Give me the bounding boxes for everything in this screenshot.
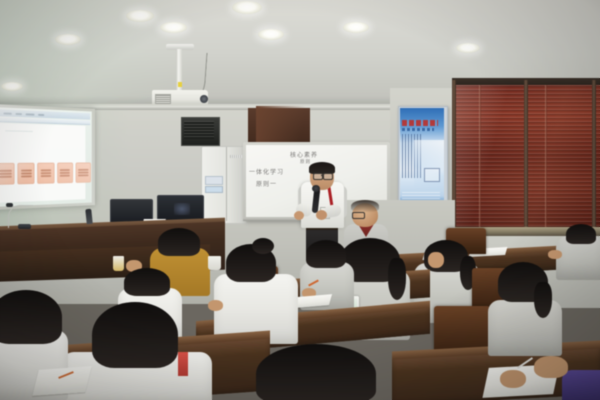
student-bottom-left-hair: [0, 290, 62, 344]
ac-cabinet-vent: [230, 155, 242, 158]
student-mid-left-yellow-hair: [158, 228, 200, 256]
student-row1-left-hair: [124, 268, 170, 296]
instructor-hand-right: [316, 210, 327, 220]
student-mid-center-hair: [306, 240, 346, 268]
whiteboard-title-text: 核心素养: [290, 150, 318, 159]
ceiling-light-7: [456, 43, 480, 53]
whiteboard-line-2: 原则一: [256, 179, 277, 188]
student-back-right-face: [428, 252, 444, 268]
ceiling-light-1: [55, 34, 81, 45]
student-back-left-glasses: [352, 212, 365, 219]
classroom-photo: 核心素养 原则 一体化学习 原则一: [0, 0, 600, 400]
projector-lens-icon: [200, 95, 208, 103]
student-far-right-hair: [566, 224, 596, 244]
gooseneck-microphone-base: [18, 224, 31, 229]
ac-cabinet-panel: [205, 186, 223, 193]
student-bottom-mid-hair: [256, 344, 376, 400]
student-mid-left-bun: [252, 238, 274, 254]
window-mullion-2: [524, 80, 528, 230]
instructor-glasses-bridge: [321, 175, 324, 176]
student-bottom-right-sleeve: [562, 370, 600, 400]
podium-monitor-right-screen: [174, 203, 190, 215]
student-far-right-hand: [548, 250, 562, 259]
handheld-microphone-head: [312, 185, 320, 192]
ceiling-light-3: [126, 10, 154, 22]
paper-cup-right: [208, 256, 221, 270]
student-front-right-ponytail: [534, 282, 552, 318]
student-bottom-center-collar: [178, 352, 188, 376]
ceiling-light-8: [1, 82, 23, 91]
instructor-hand-left: [294, 211, 304, 220]
ceiling-light-2: [160, 22, 187, 33]
ceiling-light-4: [232, 1, 262, 14]
ceiling-light-5: [258, 29, 284, 40]
window-mullion-3: [592, 80, 596, 230]
ac-cabinet-display: [205, 176, 223, 185]
blind-cord-1[interactable]: [479, 85, 481, 227]
projection-screen-glare: [0, 104, 95, 210]
wall-poster-headline: [402, 120, 438, 126]
whiteboard-subtitle-text: 原则: [300, 159, 311, 165]
projector-sticker: [178, 82, 182, 87]
wood-wall-panel-highlight: [256, 106, 312, 144]
wall-speaker-grill: [184, 121, 214, 139]
student-bottom-center-hair: [92, 302, 178, 368]
ceiling-light-6: [343, 22, 369, 33]
instructor-glasses-right-lens: [323, 173, 333, 180]
student-mid-left-hand: [208, 300, 223, 311]
student-mid-right-ponytail: [388, 258, 406, 300]
student-bottom-right-hand: [534, 356, 568, 378]
gooseneck-microphone-head: [6, 203, 13, 207]
projection-screen: [0, 104, 95, 210]
wall-poster-subhead: [402, 128, 434, 131]
student-back-left-hair: [351, 200, 379, 212]
wall-poster-stamp: [424, 168, 440, 182]
student-bottom-right-hand-2: [500, 370, 526, 388]
ac-cabinet-seam: [226, 147, 227, 221]
wall-poster-graphic: [414, 140, 444, 190]
paper-foreground-1: [32, 366, 91, 396]
whiteboard-line-1: 一体化学习: [249, 167, 284, 176]
blind-cord-2[interactable]: [545, 85, 547, 227]
paper-cup-left: [113, 256, 124, 271]
